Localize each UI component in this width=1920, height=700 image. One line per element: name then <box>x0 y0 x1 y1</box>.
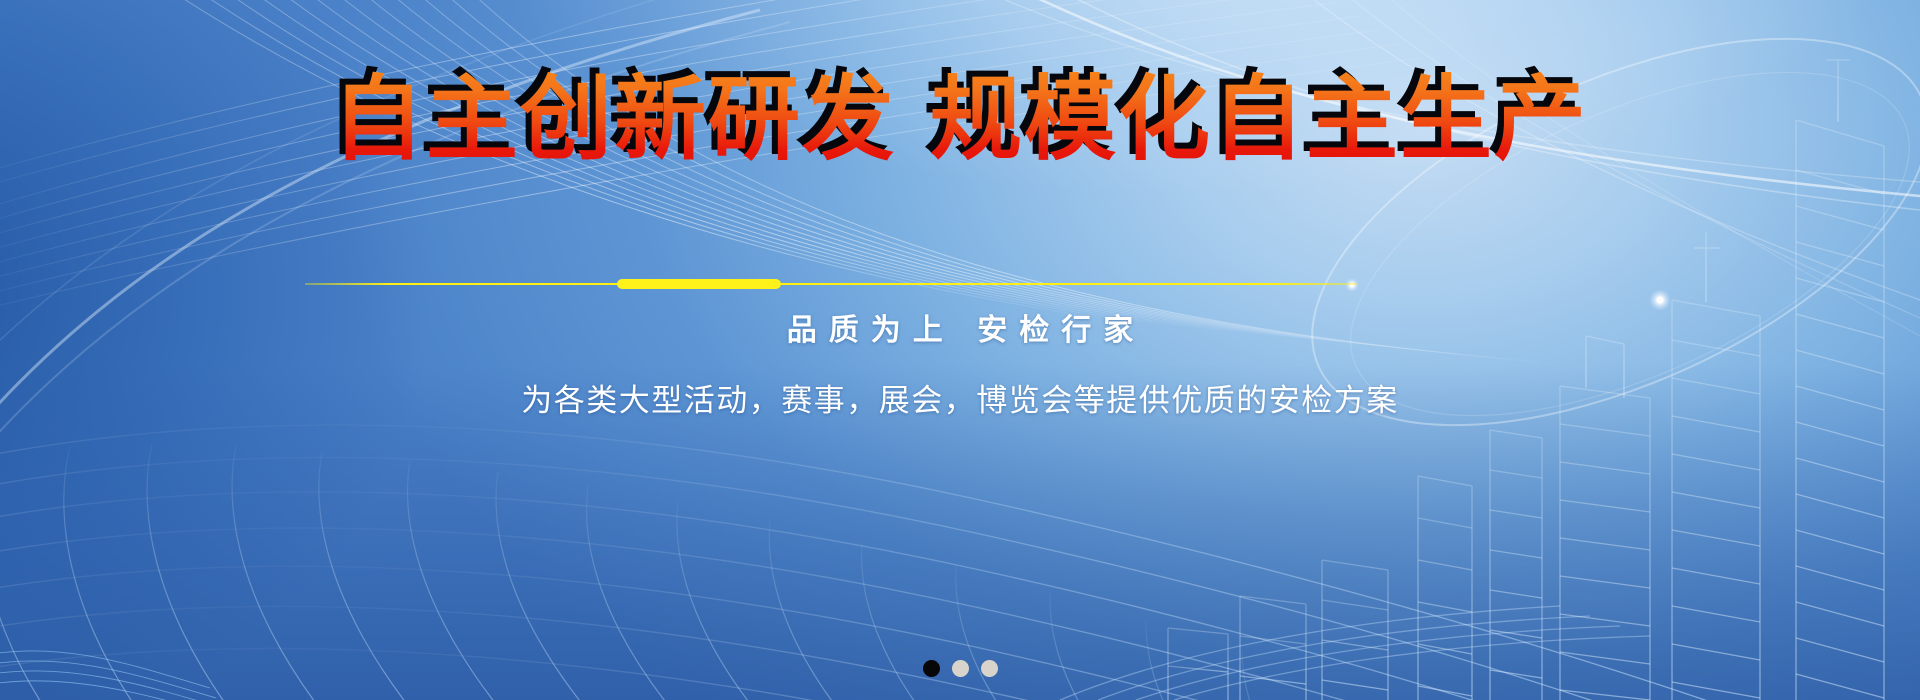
headline-block: 自主创新研发 规模化自主生产 自主创新研发 规模化自主生产 <box>0 70 1920 169</box>
carousel-dot-3[interactable] <box>981 660 998 677</box>
divider-hairline <box>305 283 1357 285</box>
divider <box>305 278 1357 290</box>
carousel-pagination[interactable] <box>0 660 1920 677</box>
headline-face-layer: 自主创新研发 规模化自主生产 <box>332 66 1588 173</box>
carousel-dot-1[interactable] <box>923 660 940 677</box>
subtitle-secondary: 为各类大型活动，赛事，展会，博览会等提供优质的安检方案 <box>0 375 1920 420</box>
headline: 自主创新研发 规模化自主生产 自主创新研发 规模化自主生产 <box>332 70 1588 169</box>
divider-accent-nub <box>617 279 781 289</box>
carousel-dot-2[interactable] <box>952 660 969 677</box>
hero-banner: 自主创新研发 规模化自主生产 自主创新研发 规模化自主生产 品质为上 安检行家 … <box>0 0 1920 700</box>
subtitle-primary: 品质为上 安检行家 <box>0 305 1920 349</box>
subtitle-block: 品质为上 安检行家 为各类大型活动，赛事，展会，博览会等提供优质的安检方案 <box>0 305 1920 420</box>
